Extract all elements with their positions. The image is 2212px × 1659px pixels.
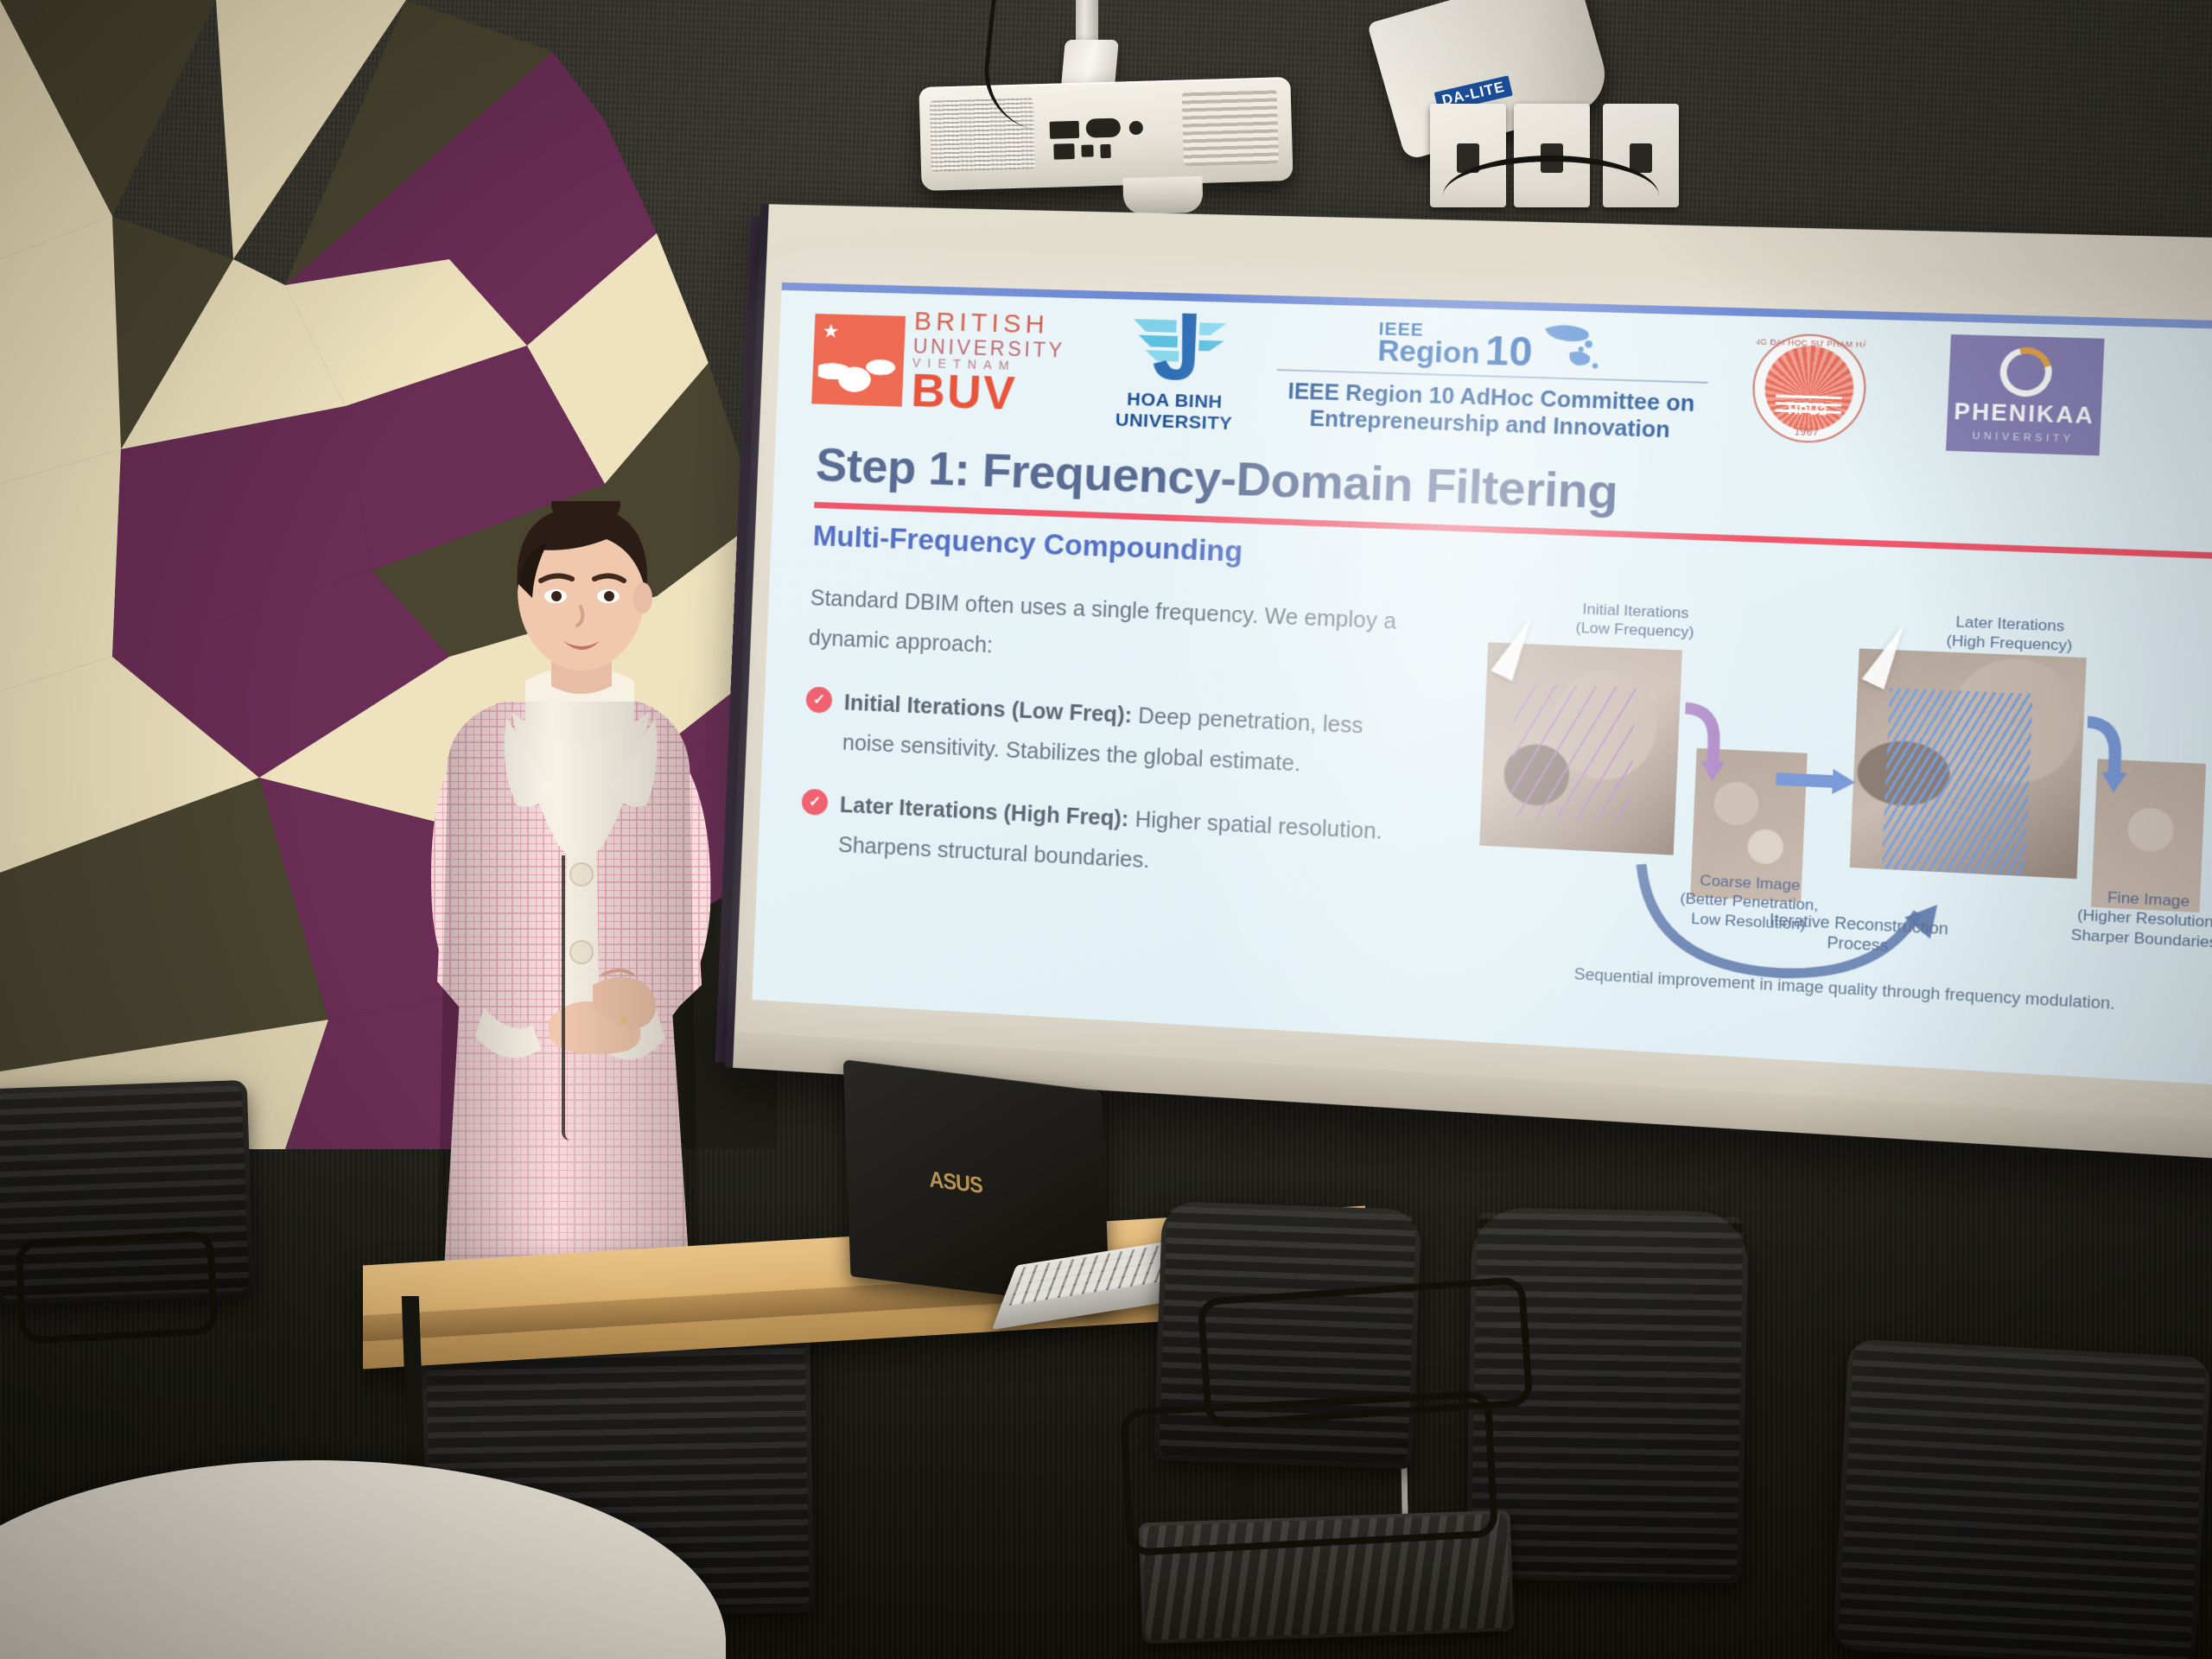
ieee-region-label: Region — [1377, 338, 1480, 368]
low-frequency-beam-overlay — [1510, 683, 1637, 823]
logo-hpu2: TRƯỜNG ĐẠI HỌC SƯ PHẠM HÀ NỘI 2 HPU2 196… — [1706, 331, 1913, 446]
buv-line-4: BUV — [910, 365, 1064, 420]
slide-lead-paragraph: Standard DBIM often uses a single freque… — [808, 578, 1424, 684]
slide-diagram: Initial Iterations (Low Frequency) Later… — [1454, 595, 2212, 1039]
chair-far-right — [1833, 1338, 2211, 1659]
hpu2-code: HPU2 — [1764, 402, 1853, 420]
slide-bullet-1: ✓ Initial Iterations (Low Freq): Deep pe… — [804, 681, 1420, 790]
logo-buv: ★ BRITISH UNIVERSITY VIETNAM BUV — [811, 305, 1078, 420]
check-circle-icon: ✓ — [801, 788, 828, 816]
chair-arm-left — [15, 1230, 219, 1344]
slide-bullet-2: ✓ Later Iterations (High Freq): Higher s… — [799, 783, 1415, 894]
projection-screen: ★ BRITISH UNIVERSITY VIETNAM BUV — [725, 204, 2212, 1162]
buv-wordmark: BRITISH UNIVERSITY VIETNAM BUV — [910, 308, 1066, 421]
bullet-2-lead: Later Iterations (High Freq): — [839, 793, 1129, 832]
phenikaa-ring-icon — [1991, 338, 2062, 405]
chair-ribs — [1838, 1344, 2206, 1659]
star-icon: ★ — [822, 321, 840, 341]
lion-shape — [817, 345, 899, 401]
phenikaa-line-1: PHENIKAA — [1954, 398, 2095, 429]
logo-ieee-region-10: IEEE Region 10 — [1274, 314, 1711, 445]
buv-lion-icon: ★ — [811, 314, 906, 407]
hoa-binh-bird-icon — [1122, 304, 1232, 388]
ieee-wordmark: IEEE Region — [1377, 321, 1481, 368]
asia-pacific-map-icon — [1537, 321, 1608, 371]
diagram-process-label: Iterative Reconstruction Process — [1716, 908, 2001, 963]
ceiling-projector — [918, 77, 1293, 191]
hpu2-seal-icon: TRƯỜNG ĐẠI HỌC SƯ PHẠM HÀ NỘI 2 HPU2 196… — [1750, 333, 1867, 444]
projector-vent — [1182, 89, 1279, 166]
hoa-binh-line-2: UNIVERSITY — [1115, 410, 1232, 435]
high-frequency-beam-overlay — [1882, 688, 2033, 876]
diagram-bottom-caption: Sequential improvement in image quality … — [1474, 959, 2212, 1019]
phenikaa-line-2: UNIVERSITY — [1972, 430, 2074, 444]
bullet-2-text: Later Iterations (High Freq): Higher spa… — [837, 785, 1414, 895]
diagram-label-initial: Initial Iterations (Low Frequency) — [1541, 598, 1729, 644]
wall-socket-icon — [1630, 143, 1652, 173]
logo-phenikaa: PHENIKAA UNIVERSITY — [1908, 334, 2105, 456]
bullet-1-lead: Initial Iterations (Low Freq): — [843, 690, 1132, 728]
slide-logo-row: ★ BRITISH UNIVERSITY VIETNAM BUV — [777, 302, 2212, 462]
projector-lens-hood — [1122, 176, 1203, 214]
chair-right-armrest-upper — [1197, 1276, 1534, 1428]
hoa-binh-wordmark: HOA BINH UNIVERSITY — [1115, 389, 1233, 435]
slide-subtitle: Multi-Frequency Compounding — [812, 519, 1243, 569]
lapel-mic-cable — [562, 855, 570, 1141]
diagram-caption-fine: Fine Image (Higher Resolution, Sharper B… — [2055, 885, 2212, 953]
bullet-1-text: Initial Iterations (Low Freq): Deep pene… — [842, 683, 1420, 790]
logo-hoa-binh: HOA BINH UNIVERSITY — [1073, 303, 1280, 436]
ieee-committee-caption: IEEE Region 10 AdHoc Committee on Entrep… — [1287, 378, 1695, 445]
diagram-label-later: Later Iterations (High Frequency) — [1909, 611, 2112, 658]
slide-body: Standard DBIM often uses a single freque… — [798, 578, 1424, 918]
projected-slide: ★ BRITISH UNIVERSITY VIETNAM BUV — [752, 283, 2212, 1086]
check-circle-icon: ✓ — [805, 686, 832, 713]
ieee-region-number: 10 — [1484, 334, 1533, 369]
phenikaa-box: PHENIKAA UNIVERSITY — [1946, 334, 2105, 455]
ieee-mark: IEEE Region 10 — [1377, 316, 1608, 371]
conference-room-photo: DA-LITE ★ BRITISH UNIVERSITY — [0, 0, 2212, 1659]
